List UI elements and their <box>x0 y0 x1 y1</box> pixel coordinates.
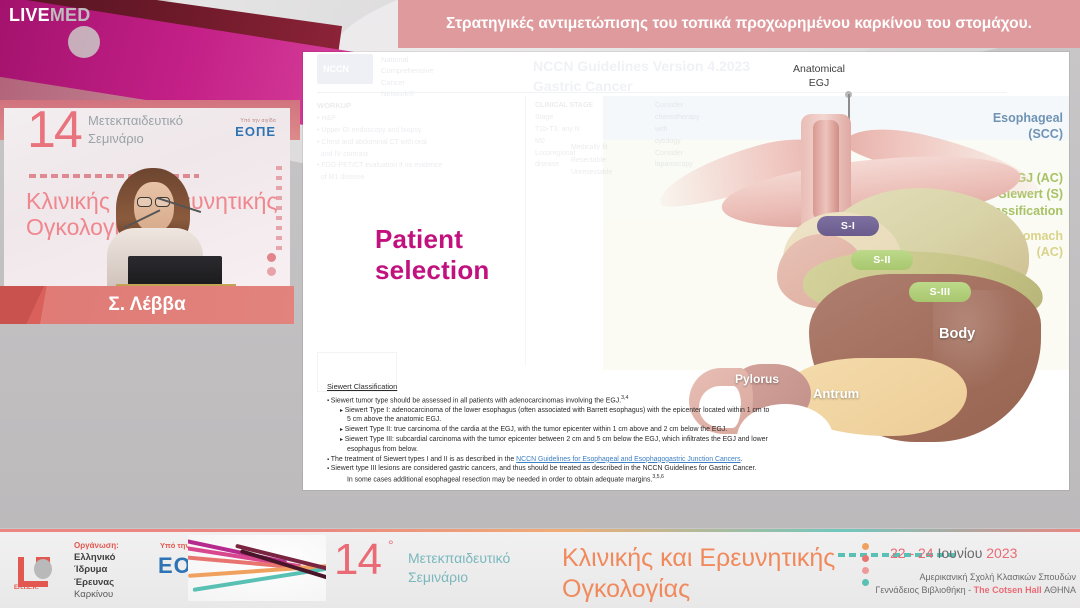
speaker-video-panel[interactable]: 14 ΜετεκπαιδευτικόΣεμινάριο Υπό την αιγί… <box>4 108 290 294</box>
siewert-classification-notes: Siewert Classification Siewert tumor typ… <box>327 382 1057 485</box>
siewert-pill-s1: S-I <box>817 216 879 236</box>
footer-date-year: 2023 <box>986 545 1017 561</box>
footer-venue: Αμερικανική Σχολή Κλασικών ΣπουδώνΓεννάδ… <box>852 571 1080 596</box>
footer-date: 22 - 24 Ιουνίου 2023 <box>890 545 1017 561</box>
backdrop-eope-text: ΕΟΠΕ <box>235 124 276 139</box>
footer-date-month: Ιουνίου <box>937 545 982 561</box>
footer-dot <box>862 555 869 562</box>
footer-venue-highlight: The Cotsen Hall <box>974 585 1042 595</box>
note-line: Siewert Type II: true carcinoma of the c… <box>327 425 1057 435</box>
eliek-logo-text: ΕΛ.Ι.Ε.Κ. <box>14 585 39 591</box>
note-text-after: . <box>741 456 743 463</box>
note-line: In some cases additional esophageal rese… <box>327 474 1057 485</box>
conference-footer-banner: ΕΛ.Ι.Ε.Κ. Οργάνωση: ΕλληνικόΊδρυμαΈρευνα… <box>0 528 1080 608</box>
stomach-anatomy-illustration: S-I S-II S-III Body Antrum Pylorus <box>633 114 1063 424</box>
nccn-watermark-logo-text: NCCN <box>323 64 349 74</box>
nccn-watermark-logo <box>317 54 373 84</box>
backdrop-dot-rule <box>276 166 282 256</box>
note-line: esophagus from below. <box>327 445 1057 455</box>
note-line: The treatment of Siewert types I and II … <box>327 455 1057 465</box>
nccn-watermark-vertical-rule <box>525 96 526 366</box>
footer-dot <box>862 543 869 550</box>
nccn-esophageal-guidelines-link[interactable]: NCCN Guidelines for Esophageal and Esoph… <box>516 456 740 463</box>
backdrop-dot-1 <box>267 253 276 262</box>
presentation-slide[interactable]: NCCN NationalComprehensiveCancerNetwork®… <box>303 52 1069 490</box>
backdrop-dot-2 <box>267 267 276 276</box>
livemed-logo[interactable]: LIVEMED <box>9 5 90 26</box>
note-line: Siewert Type III: subcardial carcinoma w… <box>327 435 1057 445</box>
note-superscript: 3,5,6 <box>652 474 664 480</box>
eliek-logo: ΕΛ.Ι.Ε.Κ. <box>14 537 66 597</box>
note-text: In some cases additional esophageal rese… <box>347 476 652 483</box>
note-text: esophagus from below. <box>347 446 418 453</box>
nccn-watermark-rule <box>317 92 1007 93</box>
backdrop-seminar-number: 14 <box>27 108 81 160</box>
esophagus-lumen <box>813 120 839 220</box>
organizer-name: ΕλληνικόΊδρυμαΈρευναςΚαρκίνου <box>74 552 115 601</box>
speaker-face <box>134 182 174 232</box>
nccn-watermark-side-text: NationalComprehensiveCancerNetwork® <box>381 54 434 99</box>
presentation-title: Στρατηγικές αντιμετώπισης του τοπικά προ… <box>398 0 1080 48</box>
note-line: 5 cm above the anatomic EGJ. <box>327 415 1057 425</box>
note-text: Siewert type III lesions are considered … <box>331 465 757 472</box>
organizer-label: Οργάνωση: <box>74 541 119 550</box>
speaker-glasses-left <box>137 197 152 207</box>
note-text: Siewert Type III: subcardial carcinoma w… <box>345 436 768 443</box>
footer-seminar-number: 14 <box>334 535 381 585</box>
anatomical-egj-label: AnatomicalEGJ <box>759 62 879 90</box>
siewert-pill-s3: S-III <box>909 282 971 302</box>
ribbon-graphic <box>188 535 326 601</box>
note-text: Siewert Type II: true carcinoma of the c… <box>345 426 728 433</box>
backdrop-eope-logo: Υπό την αιγίδα ΕΟΠΕ <box>235 118 276 139</box>
nccn-watermark-heading: NCCN Guidelines Version 4.2023Gastric Ca… <box>533 56 750 97</box>
nccn-watermark-column-workup: WORKUP• H&P• Upper GI endoscopy and biop… <box>317 100 502 184</box>
note-text: 5 cm above the anatomic EGJ. <box>347 416 441 423</box>
backdrop-seminar-sub: ΜετεκπαιδευτικόΣεμινάριο <box>88 112 183 147</box>
note-text: Siewert tumor type should be assessed in… <box>331 397 621 404</box>
footer-seminar-label: ΜετεκπαιδευτικόΣεμινάριο <box>408 549 510 587</box>
speaker-name: Σ. Λέββα <box>0 286 294 324</box>
note-line: Siewert Type I: adenocarcinoma of the lo… <box>327 406 1057 416</box>
screenshot-root: LIVEMED Στρατηγικές αντιμετώπισης του το… <box>0 0 1080 608</box>
footer-accent-rule <box>0 529 1080 532</box>
decorative-circle <box>68 26 100 58</box>
notes-heading: Siewert Classification <box>327 382 1057 393</box>
eliek-head-shape <box>34 559 52 579</box>
patient-selection-heading: Patientselection <box>375 224 490 285</box>
anatomy-tag-body: Body <box>939 326 975 342</box>
note-line: Siewert tumor type should be assessed in… <box>327 395 1057 406</box>
note-line: Siewert type III lesions are considered … <box>327 464 1057 474</box>
logo-live-text: LIVE <box>9 5 50 25</box>
siewert-pill-s2: S-II <box>851 250 913 270</box>
note-text: Siewert Type I: adenocarcinoma of the lo… <box>345 407 770 414</box>
logo-med-text: MED <box>50 5 91 25</box>
footer-degree-symbol: ° <box>388 537 394 553</box>
note-superscript: 3,4 <box>621 395 628 401</box>
footer-date-days: 22 - 24 <box>890 545 934 561</box>
footer-theme: Κλινικής και ΕρευνητικήςΟγκολογίας <box>562 543 835 606</box>
note-text: The treatment of Siewert types I and II … <box>331 456 516 463</box>
